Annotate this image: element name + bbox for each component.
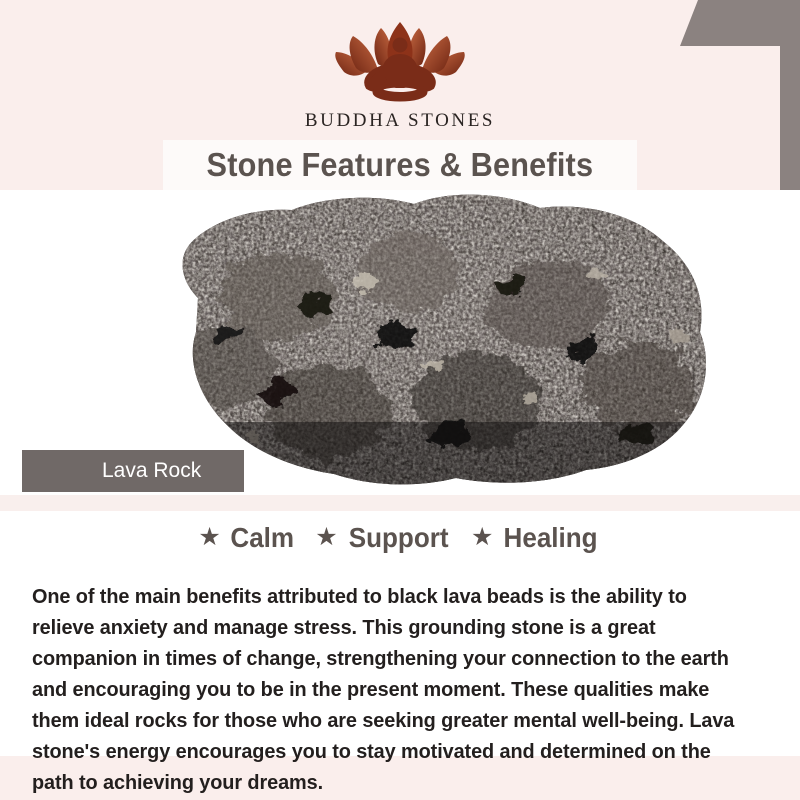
benefit-label: Calm xyxy=(230,522,294,554)
star-icon: ★ xyxy=(198,525,220,550)
benefit-label: Support xyxy=(348,522,448,554)
content-section: ★ Calm ★ Support ★ Healing One of the ma… xyxy=(0,511,800,756)
benefit-item: ★ Healing xyxy=(471,522,602,554)
photo-caption-bar: Lava Rock xyxy=(22,450,244,492)
benefit-item: ★ Support xyxy=(315,522,452,554)
brand-logo: BUDDHA STONES xyxy=(0,16,800,132)
benefit-label: Healing xyxy=(504,522,598,554)
lotus-meditation-icon xyxy=(326,16,474,106)
description-paragraph: One of the main benefits attributed to b… xyxy=(32,581,750,798)
benefits-row: ★ Calm ★ Support ★ Healing xyxy=(0,522,800,554)
brand-name: BUDDHA STONES xyxy=(305,110,495,132)
photo-caption-text: Lava Rock xyxy=(102,459,201,483)
page-title: Stone Features & Benefits xyxy=(207,146,594,184)
frame-top-right-corner xyxy=(680,0,800,46)
benefit-item: ★ Calm xyxy=(198,522,296,554)
title-banner: Stone Features & Benefits xyxy=(163,140,637,190)
divider-strip xyxy=(0,495,800,511)
star-icon: ★ xyxy=(471,525,493,550)
star-icon: ★ xyxy=(315,525,337,550)
infographic-card: BUDDHA STONES Stone Features & Benefits xyxy=(0,0,800,800)
